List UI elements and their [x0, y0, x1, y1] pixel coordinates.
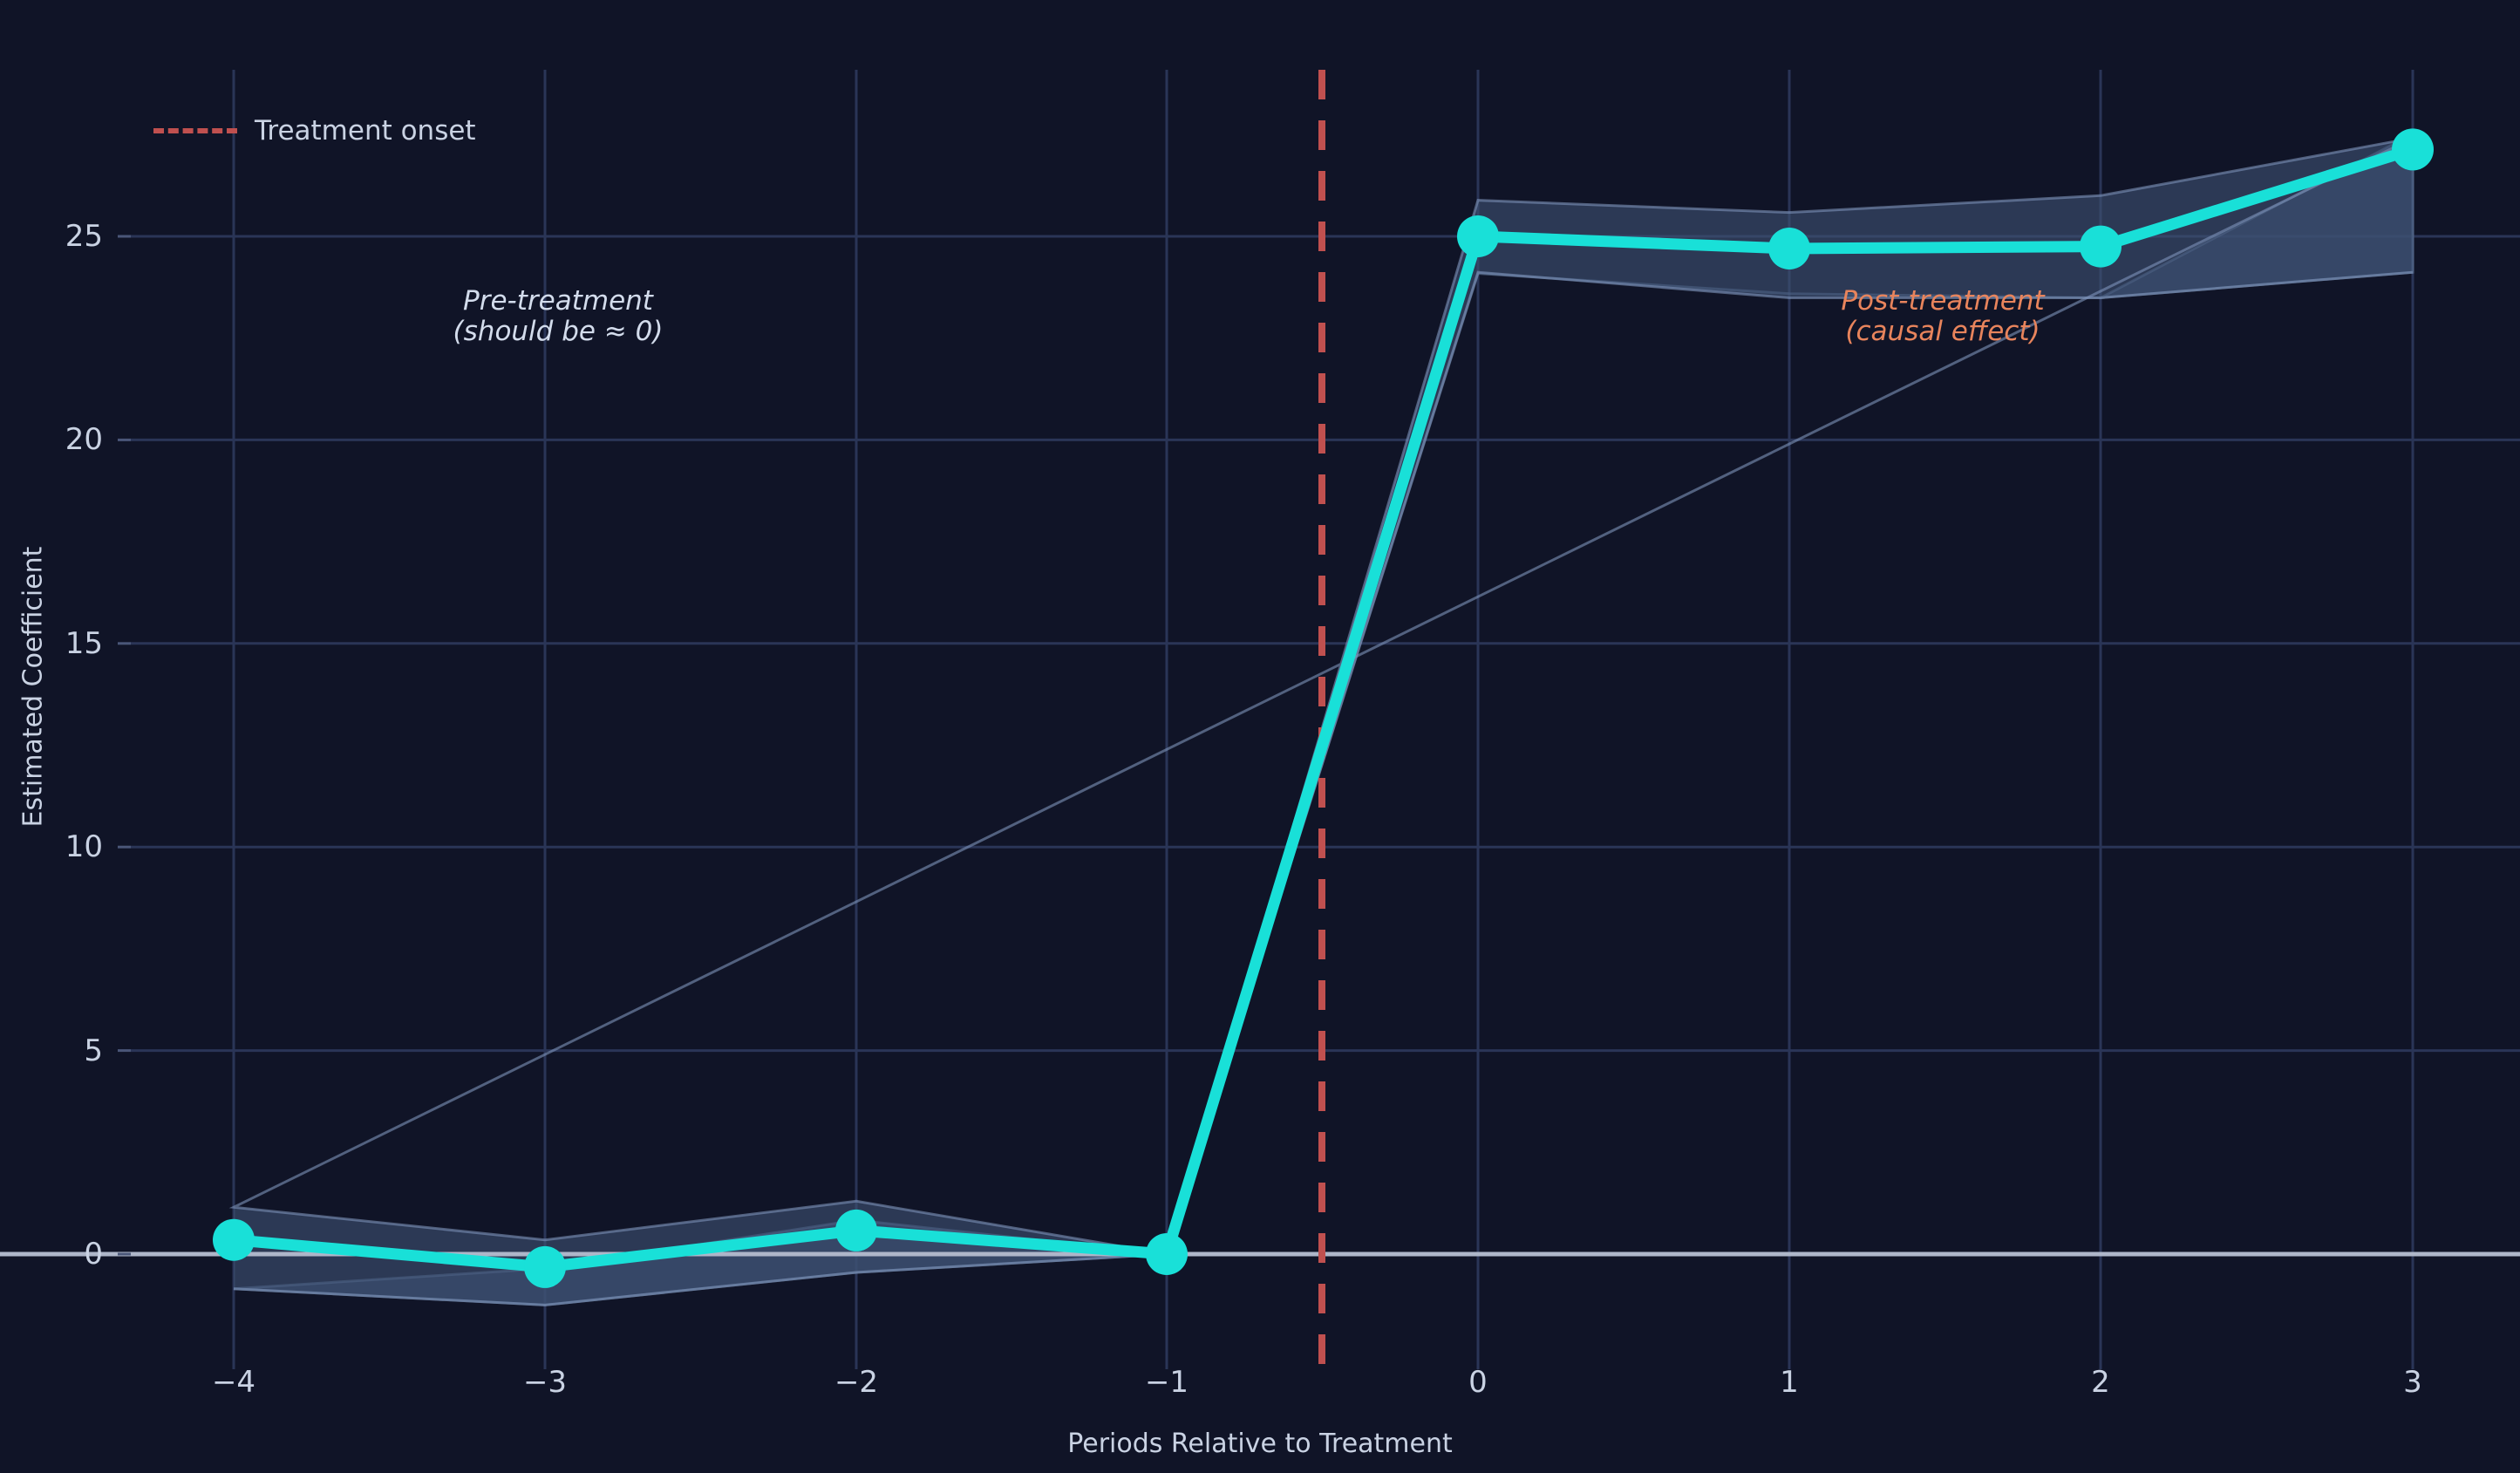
x-tick-label: −4	[212, 1365, 255, 1400]
data-point-marker	[2080, 226, 2122, 268]
data-point-marker	[1457, 215, 1499, 257]
y-tick-label: 0	[0, 1237, 103, 1272]
x-tick-label: 0	[1468, 1365, 1488, 1400]
legend-item-label: Treatment onset	[255, 115, 476, 147]
x-tick-label: −3	[523, 1365, 567, 1400]
x-tick-label: 1	[1780, 1365, 1799, 1400]
x-tick-label: −2	[834, 1365, 878, 1400]
y-tick-label: 25	[0, 219, 103, 254]
data-point-marker	[524, 1246, 566, 1288]
data-point-marker	[2392, 128, 2434, 170]
dashed-line-icon	[153, 128, 237, 133]
y-axis-label: Estimated Coefficient	[18, 408, 49, 966]
x-tick-label: 3	[2403, 1365, 2422, 1400]
annotation-pre-treatment: Pre-treatment (should be ≈ 0)	[453, 286, 664, 346]
data-point-marker	[1146, 1233, 1188, 1275]
x-tick-label: 2	[2091, 1365, 2110, 1400]
y-tick-label: 20	[0, 422, 103, 457]
x-axis-label: Periods Relative to Treatment	[0, 1429, 2520, 1459]
data-point-marker	[213, 1219, 255, 1261]
annotation-post-treatment: Post-treatment (causal effect)	[1841, 286, 2044, 346]
x-tick-label: −1	[1145, 1365, 1188, 1400]
data-point-marker	[1768, 228, 1810, 269]
y-tick-label: 10	[0, 829, 103, 864]
data-point-marker	[835, 1210, 877, 1251]
chart-legend: Treatment onset	[153, 115, 476, 147]
y-tick-label: 5	[0, 1033, 103, 1068]
y-tick-label: 15	[0, 626, 103, 661]
chart-figure: Event Study: Dynamic Treatment Effects	[0, 0, 2520, 1473]
chart-plot-area	[0, 0, 2520, 1473]
